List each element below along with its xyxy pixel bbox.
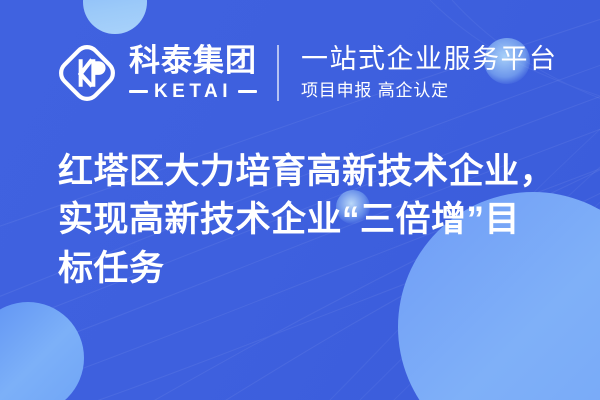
circle-bottom-left-decoration bbox=[0, 302, 84, 400]
brand-name-en: KETAI bbox=[148, 82, 238, 101]
vertical-divider bbox=[277, 45, 279, 101]
brand-wordmark: 科泰集团 KETAI bbox=[129, 45, 257, 100]
brand-name-en-row: KETAI bbox=[129, 82, 257, 101]
dash-right-decoration bbox=[238, 90, 257, 93]
tagline-sub: 项目申报 高企认定 bbox=[301, 82, 558, 101]
ketai-diamond-monogram-icon bbox=[58, 44, 116, 102]
banner-root: 科泰集团 KETAI 一站式企业服务平台 项目申报 高企认定 红塔区大力培育高新… bbox=[0, 0, 600, 400]
dash-left-decoration bbox=[129, 90, 148, 93]
headline-line-1: 红塔区大力培育高新技术企业， bbox=[58, 148, 560, 196]
headline-line-3: 标任务 bbox=[58, 245, 560, 293]
headline-line-2: 实现高新技术企业“三倍增”目 bbox=[58, 196, 560, 244]
page-title: 红塔区大力培育高新技术企业， 实现高新技术企业“三倍增”目 标任务 bbox=[58, 148, 560, 293]
circle-top-decoration bbox=[83, 0, 147, 34]
brand-logo[interactable]: 科泰集团 KETAI bbox=[58, 44, 257, 102]
tagline-main: 一站式企业服务平台 bbox=[301, 45, 558, 75]
tagline-block: 一站式企业服务平台 项目申报 高企认定 bbox=[301, 45, 558, 100]
banner-header: 科泰集团 KETAI 一站式企业服务平台 项目申报 高企认定 bbox=[0, 36, 600, 110]
brand-name-cn: 科泰集团 bbox=[129, 45, 257, 77]
